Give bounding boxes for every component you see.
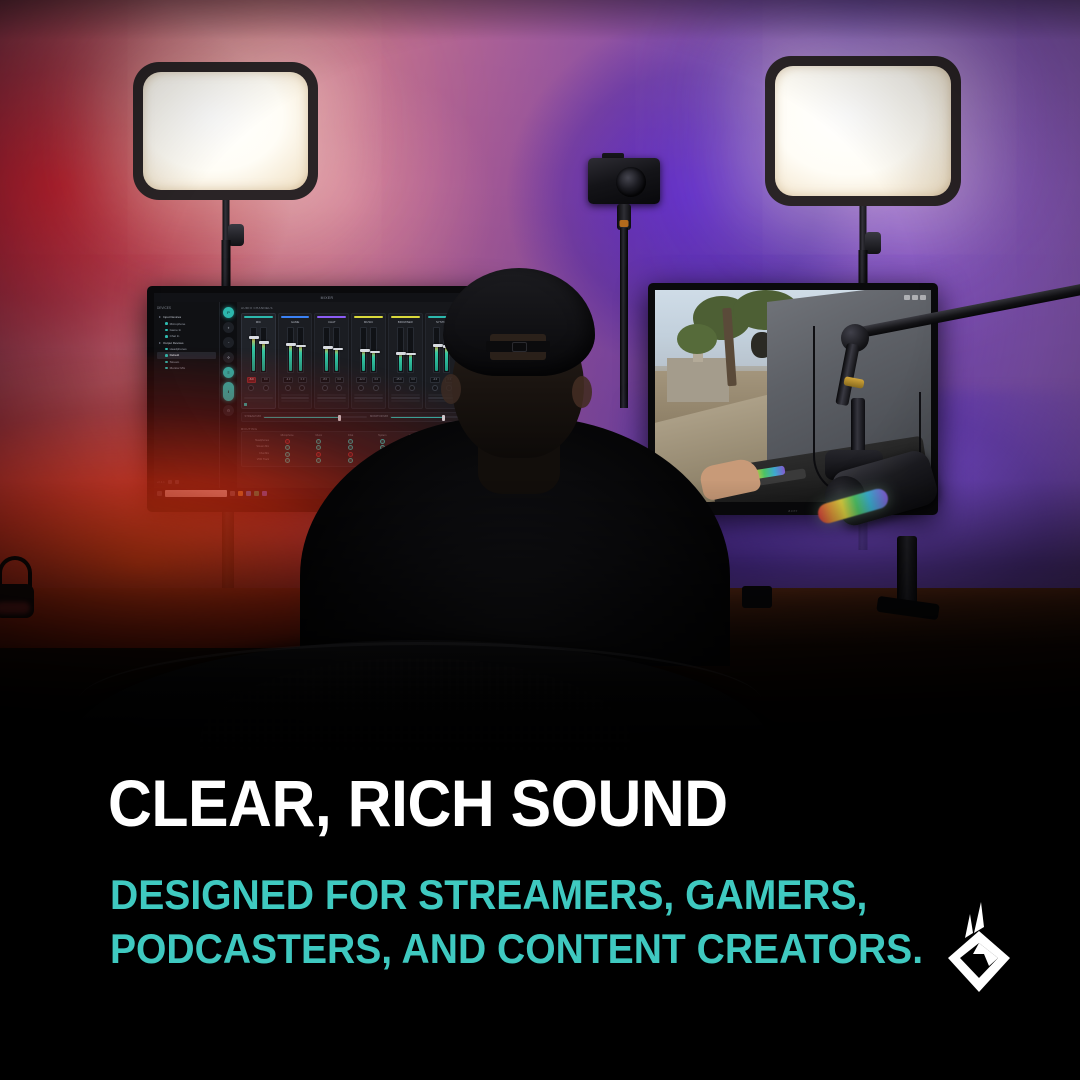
chevron-right-icon [159,342,161,344]
mirrorless-camera-on-stand [588,158,660,204]
chevron-right-icon [159,316,161,318]
device-dot-icon [165,322,168,325]
boom-desk-clamp [897,536,917,608]
marketing-text-band: CLEAR, RICH SOUND DESIGNED FOR STREAMERS… [0,756,1080,1080]
subtitle-line-2: PODCASTERS, AND CONTENT CREATORS. [110,922,928,976]
sidebar-header: DEVICES [157,306,216,310]
desk-prop [742,586,772,608]
person-at-desk [300,246,730,666]
light-diffuser [775,66,951,196]
cap-buckle [512,342,527,352]
device-dot-icon [165,329,168,332]
page-title: CLEAR, RICH SOUND [108,770,728,836]
banner-canvas: MIXER DEVICES Input DevicesMicrophoneGam… [0,0,1080,1080]
mic-icon[interactable]: ♦ [223,322,234,333]
channel-color-bar [244,316,273,318]
person-ear-right [572,376,592,408]
person-ear-left [441,374,461,404]
led-panel-light-right [765,56,961,206]
sidebar-item-label: Headphones [170,347,187,351]
fader-handle[interactable] [286,343,296,346]
device-dot-icon [165,348,168,351]
sidebar-item-label: Game In [170,328,182,332]
sidebar-item-microphone[interactable]: Microphone [157,320,216,326]
light-panel-housing [765,56,961,206]
sidebar-item-label: Output Devices [163,341,184,345]
product-lifestyle-photo: MIXER DEVICES Input DevicesMicrophoneGam… [0,0,1080,800]
sidebar-item-label: Microphone [170,322,186,326]
microphone-boom-arm [795,300,1080,630]
boom-clamp-foot [876,596,940,620]
light-diffuser [143,72,308,190]
headset-prop [0,556,42,618]
sidebar-item-chat-in[interactable]: Chat In [157,333,216,339]
channel-name: MIC [244,320,273,324]
sidebar-item-label: Input Devices [163,315,181,319]
led-panel-light-left [133,62,318,200]
sidebar-item-output-devices[interactable]: Output Devices [157,340,216,346]
fader-handle[interactable] [249,336,259,339]
camera-stand-accent [620,220,629,227]
camera-lens [616,167,646,197]
flame-diamond-logo [940,900,1018,996]
device-dot-icon [165,335,168,338]
sidebar-item-label: Chat In [170,334,180,338]
light-panel-housing [133,62,318,200]
subtitle-line-1: DESIGNED FOR STREAMERS, GAMERS, [110,868,928,922]
chair-rim-highlight [78,642,762,704]
profile-icon[interactable]: P [223,307,234,318]
subtitle: DESIGNED FOR STREAMERS, GAMERS, PODCASTE… [110,868,928,976]
fader-handle[interactable] [259,341,269,344]
headphone-icon[interactable]: ◔ [223,337,234,348]
